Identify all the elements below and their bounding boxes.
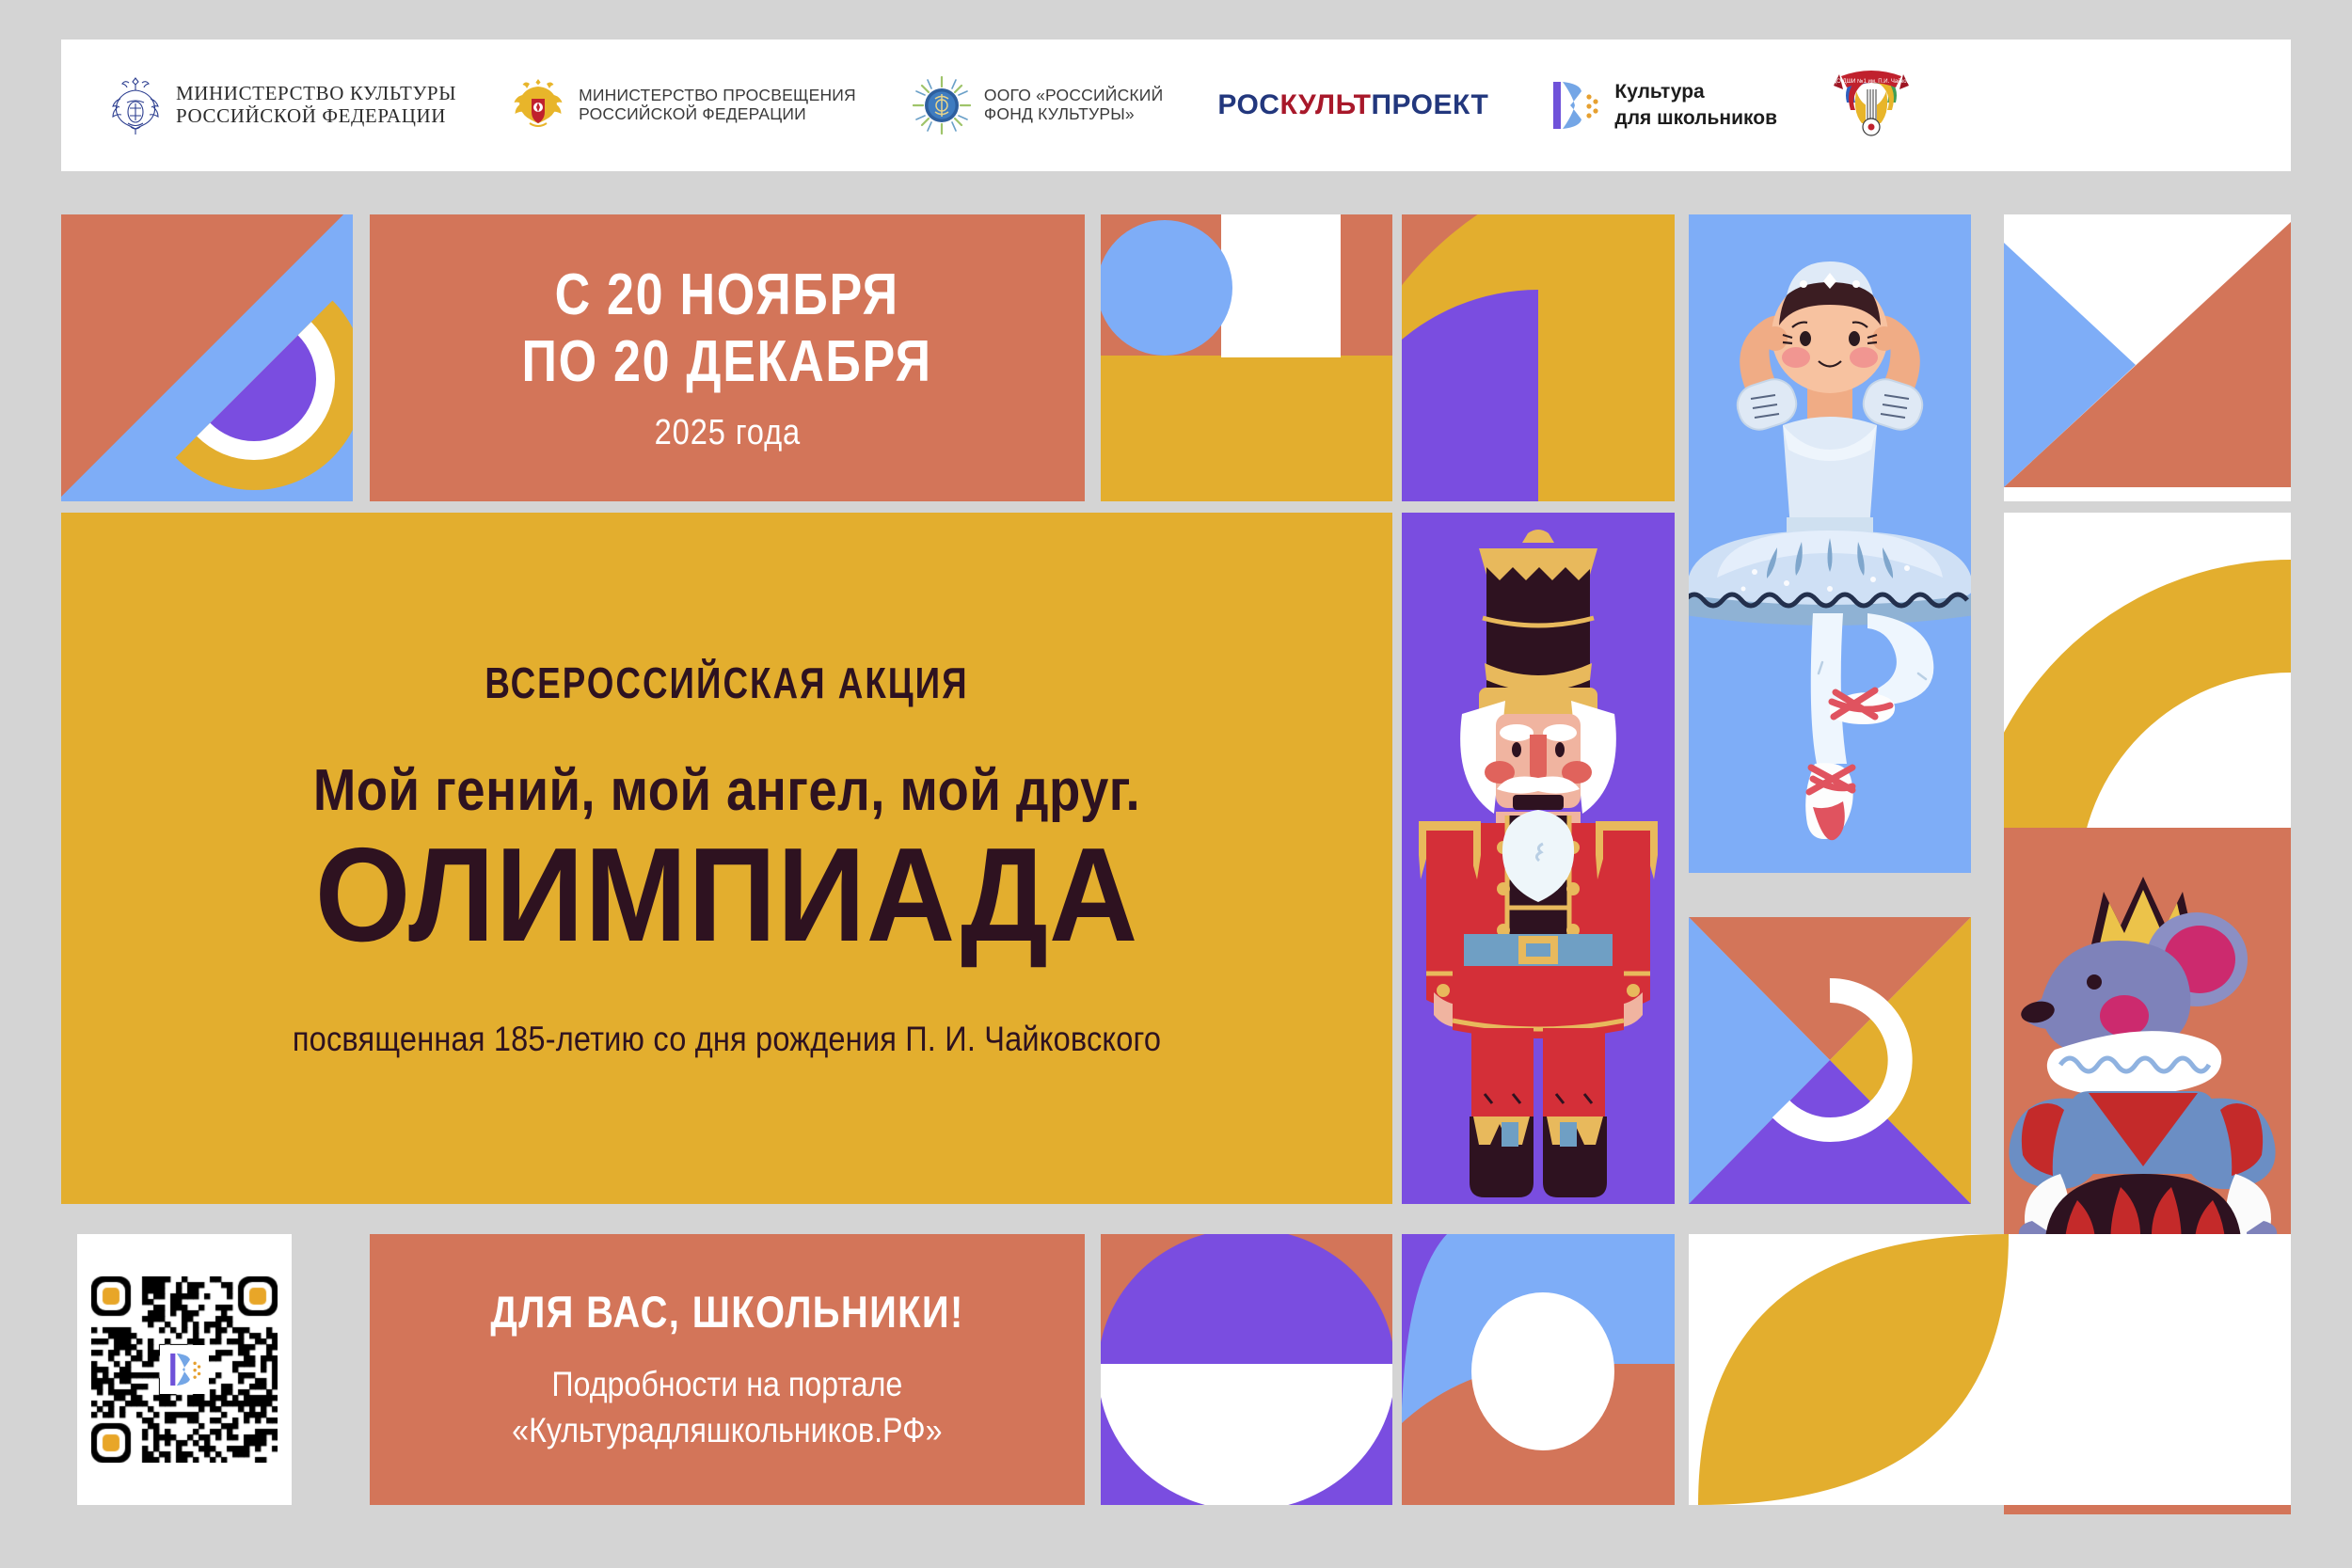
cta-subtitle-line-2: «Культурадляшкольников.РФ» bbox=[512, 1408, 942, 1453]
logo-ministry-of-culture-label: МИНИСТЕРСТВО КУЛЬТУРЫ РОССИЙСКОЙ ФЕДЕРАЦ… bbox=[176, 83, 456, 127]
cta-block: ДЛЯ ВАС, ШКОЛЬНИКИ! Подробности на порта… bbox=[370, 1234, 1085, 1505]
decor-circle-bottom-mid bbox=[1402, 1234, 1675, 1505]
cta-subtitle-line-1: Подробности на портале bbox=[512, 1362, 942, 1407]
roskultproekt-part-2: КУЛЬТ bbox=[1279, 89, 1371, 120]
dedication-text: посвященная 185-летию со дня рождения П.… bbox=[191, 1020, 1263, 1059]
qr-code[interactable] bbox=[91, 1276, 278, 1463]
logo-russian-culture-fund: ООГО «РОССИЙСКИЙ ФОНД КУЛЬТУРЫ» bbox=[913, 76, 1163, 135]
roskultproekt-part-1: РОС bbox=[1217, 89, 1279, 120]
double-headed-eagle-lyre-emblem-icon bbox=[108, 74, 163, 136]
logo-culture-for-schoolchildren: Культура для школьников bbox=[1547, 76, 1777, 135]
logo-dshi-tchaikovsky: МБУ ДО ДШИ №1 им. П.И. Чайковского bbox=[1834, 65, 1909, 146]
double-headed-eagle-emblem-icon bbox=[511, 76, 565, 135]
decor-ellipse-bottom-left bbox=[1101, 1234, 1392, 1505]
logo-roskultproekt: РОСКУЛЬТПРОЕКТ bbox=[1217, 89, 1488, 121]
cta-title: ДЛЯ ВАС, ШКОЛЬНИКИ! bbox=[490, 1286, 963, 1338]
k-bracket-dots-logo-icon bbox=[160, 1345, 209, 1394]
lyre-ribbon-emblem-icon: МБУ ДО ДШИ №1 им. П.И. Чайковского bbox=[1834, 65, 1909, 146]
decor-triangles-top-right bbox=[2004, 214, 2291, 501]
decor-big-arc-top-mid-right bbox=[1402, 214, 1675, 501]
decor-four-triangles-ring-mid-right bbox=[1689, 917, 1971, 1204]
date-line-2: ПО 20 ДЕКАБРЯ bbox=[522, 329, 932, 396]
ballerina-illustration bbox=[1689, 214, 1971, 873]
logo-ministry-of-culture: МИНИСТЕРСТВО КУЛЬТУРЫ РОССИЙСКОЙ ФЕДЕРАЦ… bbox=[108, 74, 456, 136]
nutcracker-soldier-illustration bbox=[1402, 513, 1675, 1204]
decor-circle-square-top-mid bbox=[1101, 214, 1392, 501]
olympiad-title: ОЛИМПИАДА bbox=[167, 832, 1287, 959]
roskultproekt-wordmark: РОСКУЛЬТПРОЕКТ bbox=[1217, 89, 1488, 121]
date-line-1: С 20 НОЯБРЯ bbox=[522, 262, 932, 329]
dshi-ribbon-text: МБУ ДО ДШИ №1 им. П.И. Чайковского bbox=[1834, 78, 1909, 85]
partner-logo-bar: МИНИСТЕРСТВО КУЛЬТУРЫ РОССИЙСКОЙ ФЕДЕРАЦ… bbox=[61, 40, 2291, 171]
date-block: С 20 НОЯБРЯ ПО 20 ДЕКАБРЯ 2025 года bbox=[370, 214, 1085, 501]
logo-ministry-of-education: МИНИСТЕРСТВО ПРОСВЕЩЕНИЯ РОССИЙСКОЙ ФЕДЕ… bbox=[511, 76, 856, 135]
decor-quarter-arc-top-left bbox=[61, 214, 353, 501]
logo-russian-culture-fund-label: ООГО «РОССИЙСКИЙ ФОНД КУЛЬТУРЫ» bbox=[984, 87, 1163, 123]
main-announcement-block: ВСЕРОССИЙСКАЯ АКЦИЯ Мой гений, мой ангел… bbox=[61, 513, 1392, 1204]
k-bracket-dots-logo-icon bbox=[1547, 76, 1601, 135]
date-year: 2025 года bbox=[654, 413, 800, 453]
star-monogram-emblem-icon bbox=[913, 76, 971, 135]
roskultproekt-part-3: ПРОЕКТ bbox=[1371, 89, 1488, 120]
kicker-text: ВСЕРОССИЙСКАЯ АКЦИЯ bbox=[240, 657, 1215, 708]
decor-leaf-bottom-right bbox=[1689, 1234, 2291, 1505]
qr-code-card[interactable] bbox=[77, 1234, 292, 1505]
poster-root: МИНИСТЕРСТВО КУЛЬТУРЫ РОССИЙСКОЙ ФЕДЕРАЦ… bbox=[0, 0, 2352, 1568]
logo-culture-for-schoolchildren-label: Культура для школьников bbox=[1614, 79, 1777, 133]
olympiad-subtitle: Мой гений, мой ангел, мой друг. bbox=[191, 757, 1263, 824]
logo-ministry-of-education-label: МИНИСТЕРСТВО ПРОСВЕЩЕНИЯ РОССИЙСКОЙ ФЕДЕ… bbox=[579, 87, 856, 123]
